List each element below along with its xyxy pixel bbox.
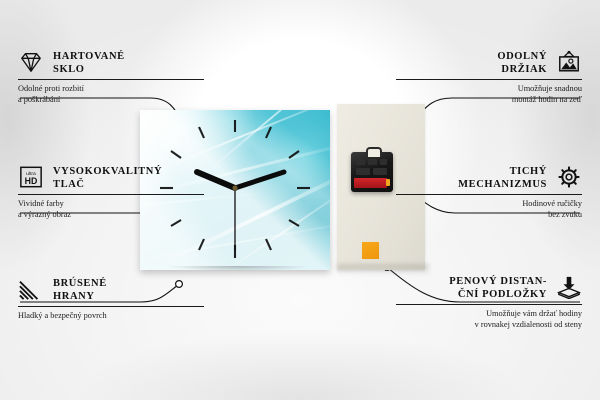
feature-description: Vividné farby a výrazný obraz — [18, 199, 204, 220]
feature-silent-mechanism[interactable]: TICHÝ MECHANIZMUS Hodinové ručičky bez z… — [396, 165, 582, 220]
feature-title: PENOVÝ DISTAN- ČNÍ PODLOŽKY — [396, 275, 547, 301]
feature-title: VYSOKOKVALITNÝ TLAČ — [53, 165, 204, 191]
feature-title: TICHÝ MECHANIZMUS — [396, 165, 547, 191]
divider — [18, 194, 204, 195]
divider — [396, 79, 582, 80]
hanger-hook-icon — [366, 147, 382, 157]
foam-spacer-pad — [362, 242, 379, 259]
feature-description: Umožňuje snadnou montáž hodin na zeď — [396, 84, 582, 105]
feature-title: HARTOVANÉ SKLO — [53, 50, 204, 76]
gear-icon — [556, 165, 582, 189]
battery — [354, 178, 387, 188]
feature-polished-edges[interactable]: BRÚSENÉ HRANY Hladký a bezpečný povrch — [18, 277, 204, 322]
feature-title: ODOLNÝ DRŽIAK — [396, 50, 547, 76]
brushed-edges-icon — [18, 277, 44, 301]
feature-high-quality-print[interactable]: ultra HD VYSOKOKVALITNÝ TLAČ Vividné far… — [18, 165, 204, 220]
feature-hardened-glass[interactable]: HARTOVANÉ SKLO Odolné proti rozbití a po… — [18, 50, 204, 105]
svg-text:HD: HD — [25, 176, 38, 186]
diamond-icon — [18, 50, 44, 74]
feature-description: Odolné proti rozbití a poškrábání — [18, 84, 204, 105]
feature-title: BRÚSENÉ HRANY — [53, 277, 204, 303]
feature-durable-hanger[interactable]: ODOLNÝ DRŽIAK Umožňuje snadnou montáž ho… — [396, 50, 582, 105]
infographic-canvas: HARTOVANÉ SKLO Odolné proti rozbití a po… — [0, 0, 600, 400]
divider — [396, 304, 582, 305]
divider — [18, 79, 204, 80]
feature-foam-spacers[interactable]: PENOVÝ DISTAN- ČNÍ PODLOŽKY Umožňuje vám… — [396, 275, 582, 330]
clock-mechanism — [351, 152, 393, 192]
foam-spacer-icon — [556, 275, 582, 299]
feature-description: Umožňuje vám držať hodiny v rovnakej vzd… — [396, 309, 582, 330]
picture-hanger-icon — [556, 50, 582, 74]
divider — [396, 194, 582, 195]
feature-description: Hodinové ručičky bez zvuku — [396, 199, 582, 220]
ultra-hd-icon: ultra HD — [18, 165, 44, 189]
divider — [18, 306, 204, 307]
feature-description: Hladký a bezpečný povrch — [18, 311, 204, 322]
